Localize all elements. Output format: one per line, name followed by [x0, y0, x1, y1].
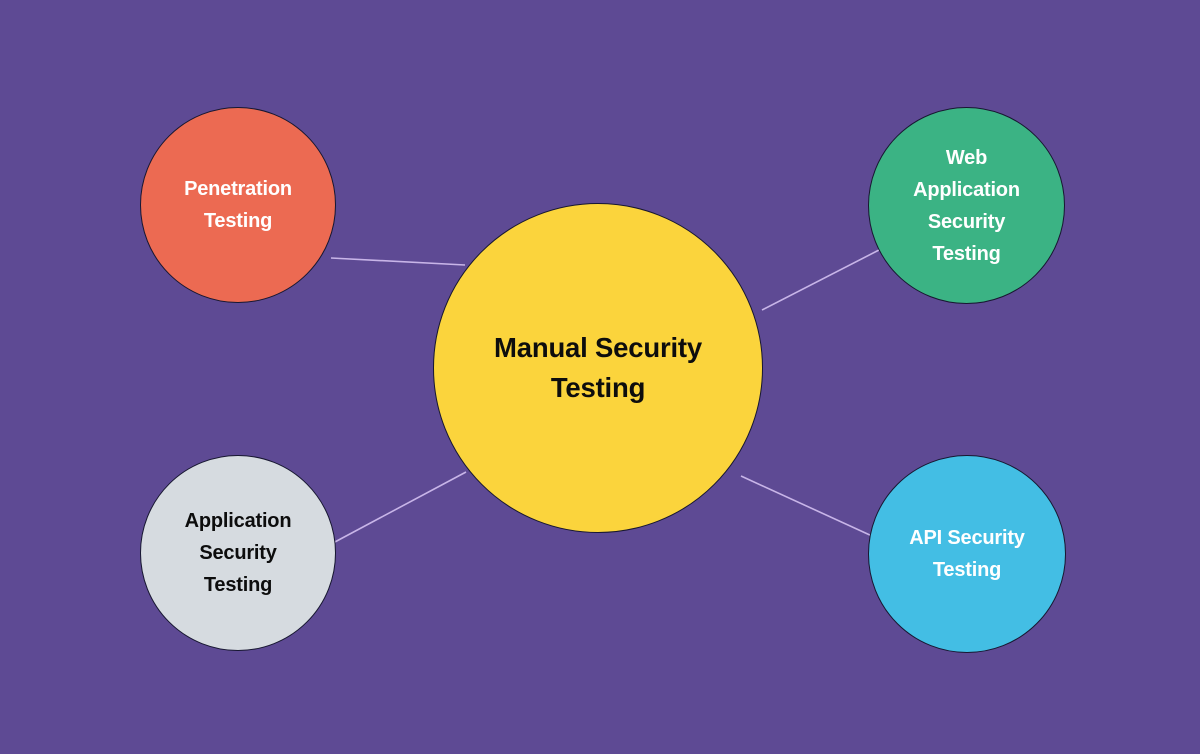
node-application-security-testing[interactable]: Application Security Testing: [140, 455, 336, 651]
node-manual-security-testing[interactable]: Manual Security Testing: [433, 203, 763, 533]
node-label-web-application-security-testing: Web Application Security Testing: [877, 142, 1057, 270]
connector-center-to-web-application-security-testing: [762, 250, 879, 310]
node-label-penetration-testing: Penetration Testing: [148, 173, 328, 237]
node-web-application-security-testing[interactable]: Web Application Security Testing: [868, 107, 1065, 304]
connector-center-to-penetration-testing: [331, 258, 465, 265]
node-penetration-testing[interactable]: Penetration Testing: [140, 107, 336, 303]
connector-center-to-api-security-testing: [741, 476, 872, 536]
node-api-security-testing[interactable]: API Security Testing: [868, 455, 1066, 653]
node-label-application-security-testing: Application Security Testing: [148, 505, 328, 601]
node-label-manual-security-testing: Manual Security Testing: [473, 328, 723, 408]
node-label-api-security-testing: API Security Testing: [877, 522, 1057, 586]
diagram-canvas: Penetration Testing Web Application Secu…: [0, 0, 1200, 754]
connector-center-to-application-security-testing: [333, 472, 466, 543]
